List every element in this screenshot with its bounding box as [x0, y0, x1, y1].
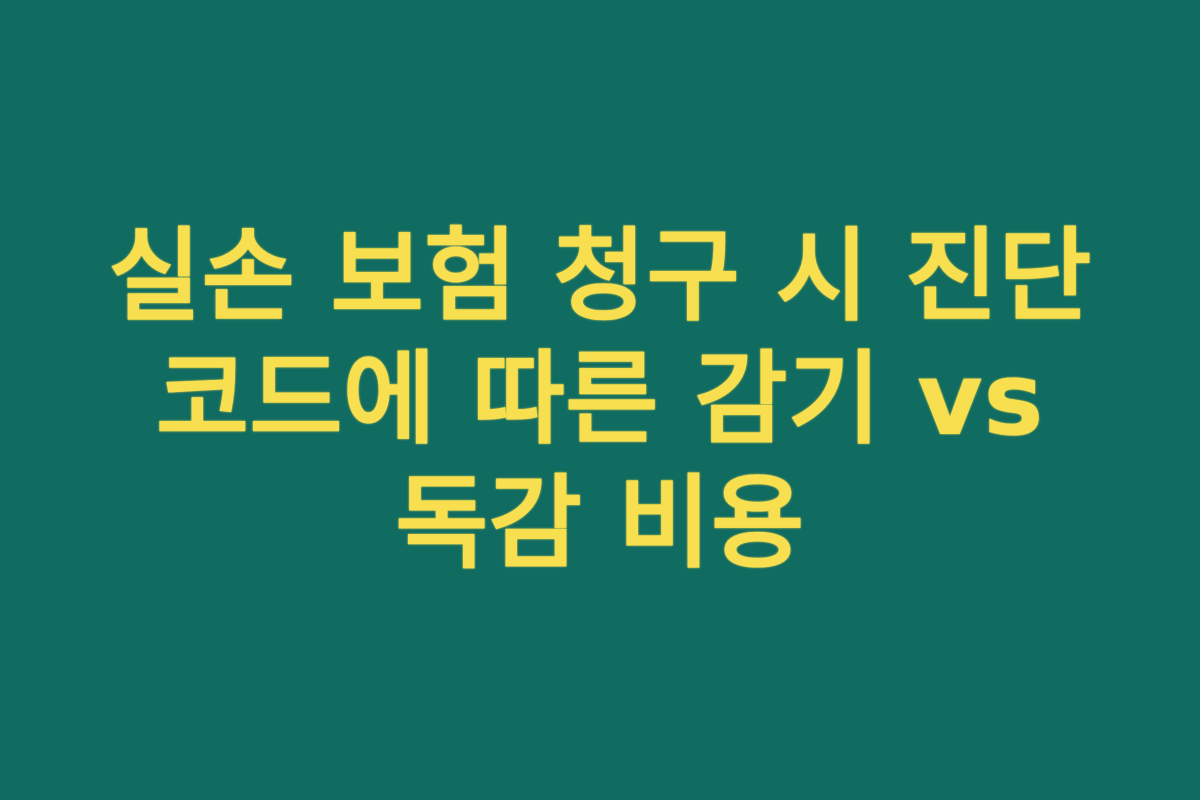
- page-title: 실손 보험 청구 시 진단 코드에 따른 감기 vs 독감 비용: [95, 215, 1105, 585]
- title-card: 실손 보험 청구 시 진단 코드에 따른 감기 vs 독감 비용: [0, 0, 1200, 800]
